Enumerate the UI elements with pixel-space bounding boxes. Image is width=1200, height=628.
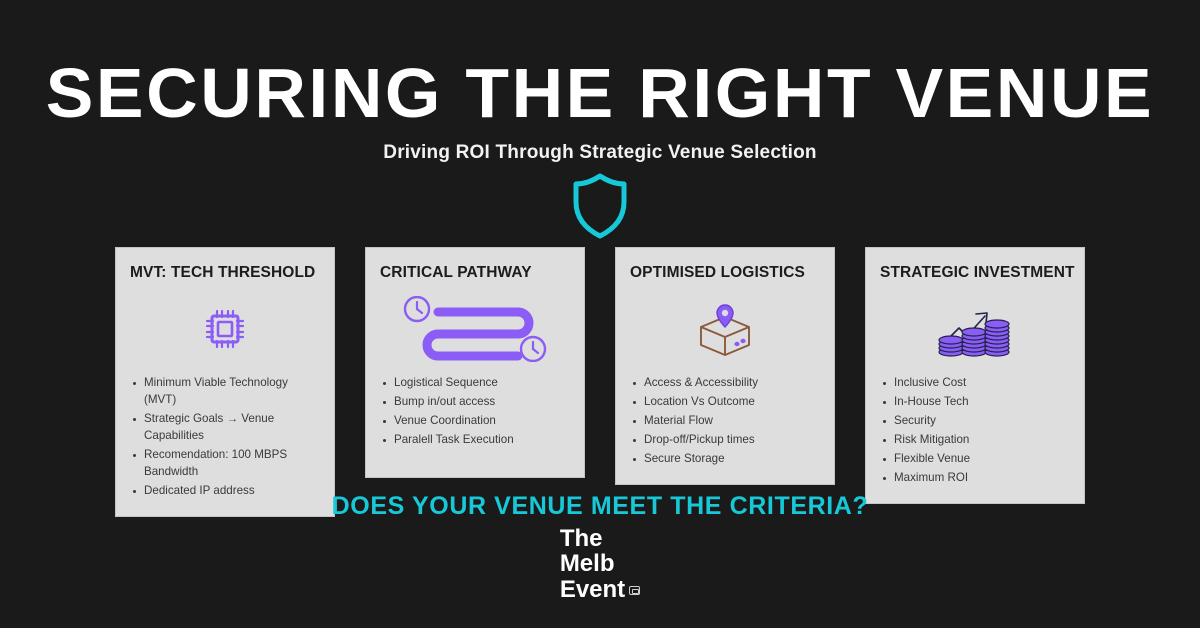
shield-icon: [570, 172, 630, 240]
logo-line-2: Melb: [560, 551, 640, 576]
list-item: Security: [880, 413, 1070, 430]
cta-text: DOES YOUR VENUE MEET THE CRITERIA?: [0, 492, 1200, 521]
list-item: Risk Mitigation: [880, 432, 1070, 449]
card-bullet-list: Access & Accessibility Location Vs Outco…: [630, 375, 820, 470]
list-item: Access & Accessibility: [630, 375, 820, 392]
card-title: CRITICAL PATHWAY: [380, 264, 570, 281]
card-mvt-tech-threshold[interactable]: MVT: TECH THRESHOLD: [115, 247, 335, 517]
clock-icon-end: [521, 337, 545, 361]
list-item: Logistical Sequence: [380, 375, 570, 392]
list-item: Minimum Viable Technology (MVT): [130, 375, 320, 409]
card-strategic-investment[interactable]: STRATEGIC INVESTMENT: [865, 247, 1085, 504]
list-item: Location Vs Outcome: [630, 394, 820, 411]
list-item: Strategic Goals → Venue Capabilities: [130, 411, 320, 445]
clock-icon-start: [405, 297, 429, 321]
page-subtitle: Driving ROI Through Strategic Venue Sele…: [0, 142, 1200, 164]
coin-stack-medium: [962, 328, 986, 356]
list-item: Paralell Task Execution: [380, 432, 570, 449]
package-location-pin-icon: [693, 299, 757, 359]
coin-stacks-growth-arrow-icon: [935, 298, 1015, 360]
list-item: Bump in/out access: [380, 394, 570, 411]
list-item: Drop-off/Pickup times: [630, 432, 820, 449]
logo-line-1: The: [560, 526, 640, 551]
infographic-poster: SECURING THE RIGHT VENUE Driving ROI Thr…: [0, 0, 1200, 628]
list-item: Flexible Venue: [880, 451, 1070, 468]
card-title: MVT: TECH THRESHOLD: [130, 264, 320, 281]
microchip-icon: [205, 309, 245, 349]
card-icon-slot: [880, 293, 1070, 365]
card-bullet-list: Inclusive Cost In-House Tech Security Ri…: [880, 375, 1070, 489]
cards-row: MVT: TECH THRESHOLD: [0, 247, 1200, 517]
serpentine-path-clock-icon: [400, 296, 550, 362]
list-item: Venue Coordination: [380, 413, 570, 430]
registered-badge-icon: [629, 586, 640, 595]
page-title: SECURING THE RIGHT VENUE: [0, 58, 1200, 128]
logo-line-3-row: Event: [560, 577, 640, 602]
list-item: Recomendation: 100 MBPS Bandwidth: [130, 447, 320, 481]
card-title: STRATEGIC INVESTMENT: [880, 264, 1070, 281]
brand-logo: The Melb Event: [0, 526, 1200, 602]
list-item: Maximum ROI: [880, 470, 1070, 487]
list-item: Secure Storage: [630, 451, 820, 468]
list-item: In-House Tech: [880, 394, 1070, 411]
card-title: OPTIMISED LOGISTICS: [630, 264, 820, 281]
card-icon-slot: [380, 293, 570, 365]
card-optimised-logistics[interactable]: OPTIMISED LOGISTICS Access & Accessibili…: [615, 247, 835, 485]
card-icon-slot: [130, 293, 320, 365]
coin-stack-large: [985, 320, 1009, 356]
card-icon-slot: [630, 293, 820, 365]
logo-line-3: Event: [560, 576, 625, 603]
list-item: Material Flow: [630, 413, 820, 430]
card-critical-pathway[interactable]: CRITICAL PATHWAY Log: [365, 247, 585, 478]
header: SECURING THE RIGHT VENUE Driving ROI Thr…: [0, 0, 1200, 164]
shield-icon-wrapper: [0, 172, 1200, 240]
list-item: Inclusive Cost: [880, 375, 1070, 392]
card-bullet-list: Logistical Sequence Bump in/out access V…: [380, 375, 570, 451]
coin-stack-small: [939, 336, 963, 356]
card-bullet-list: Minimum Viable Technology (MVT) Strategi…: [130, 375, 320, 501]
